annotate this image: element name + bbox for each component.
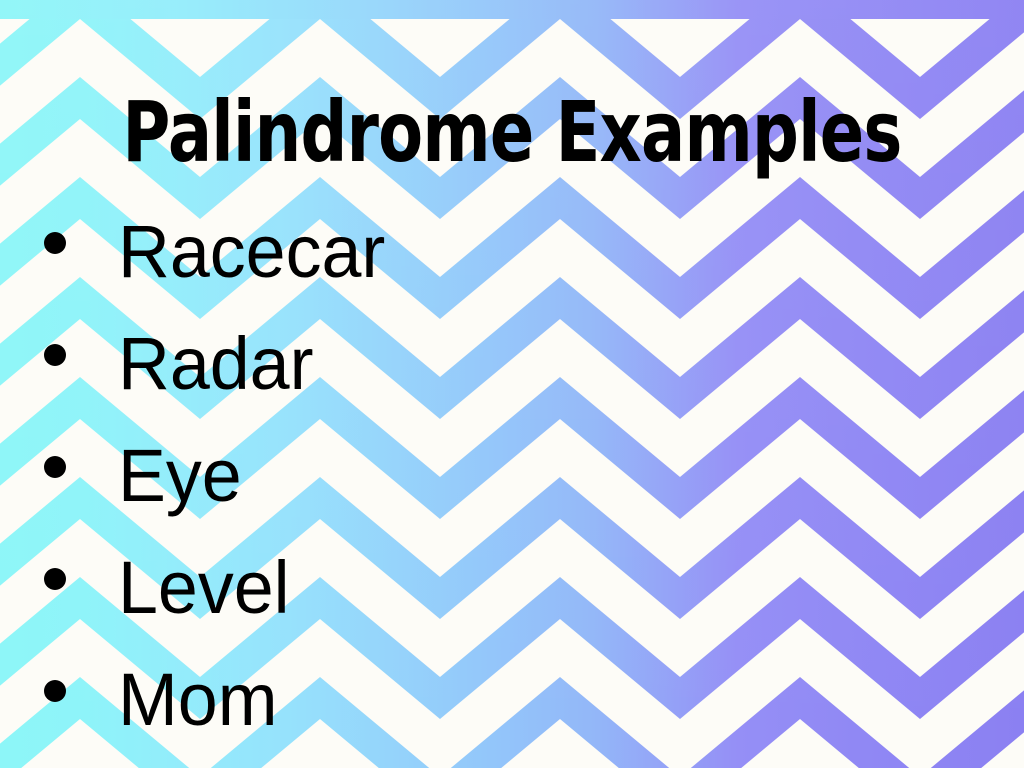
page-title: Palindrome Examples: [113, 88, 912, 176]
list-item-label: Racecar: [118, 213, 385, 291]
bullet-list: Racecar Radar Eye Level Mom: [0, 196, 1024, 756]
bullet-dot-icon: [44, 568, 66, 590]
list-item-label: Eye: [118, 437, 242, 515]
list-item: Radar: [0, 308, 1024, 420]
list-item: Mom: [0, 644, 1024, 756]
list-item-label: Mom: [118, 661, 278, 739]
slide-content: Palindrome Examples Racecar Radar Eye Le…: [0, 0, 1024, 768]
list-item: Racecar: [0, 196, 1024, 308]
list-item: Level: [0, 532, 1024, 644]
bullet-dot-icon: [44, 232, 66, 254]
slide: Palindrome Examples Racecar Radar Eye Le…: [0, 0, 1024, 768]
list-item-label: Radar: [118, 325, 314, 403]
bullet-dot-icon: [44, 344, 66, 366]
bullet-dot-icon: [44, 680, 66, 702]
bullet-dot-icon: [44, 456, 66, 478]
list-item: Eye: [0, 420, 1024, 532]
list-item-label: Level: [118, 549, 290, 627]
